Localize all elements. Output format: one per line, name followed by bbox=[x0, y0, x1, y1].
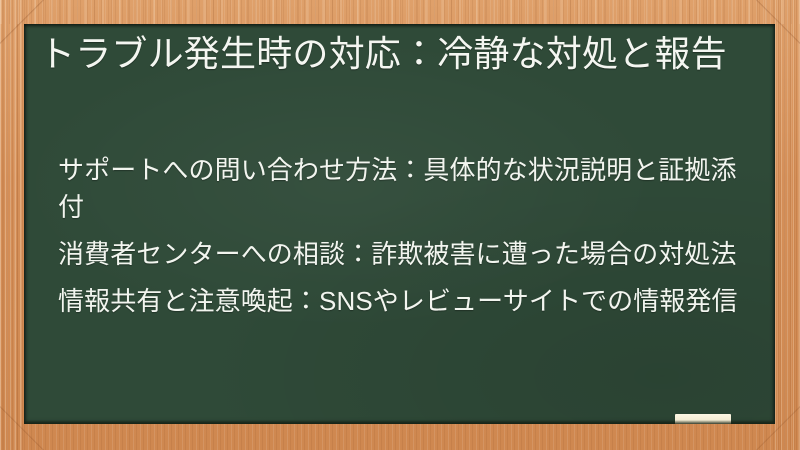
chalkboard-surface: トラブル発生時の対応：冷静な対処と報告 サポートへの問い合わせ方法：具体的な状況… bbox=[24, 24, 775, 424]
chalkboard-slide: トラブル発生時の対応：冷静な対処と報告 サポートへの問い合わせ方法：具体的な状況… bbox=[0, 0, 800, 450]
list-item: 消費者センターへの相談：詐欺被害に遭った場合の対処法 bbox=[58, 236, 758, 273]
list-item: 情報共有と注意喚起：SNSやレビューサイトでの情報発信 bbox=[58, 283, 758, 320]
frame-grain-left bbox=[0, 0, 24, 450]
list-item: サポートへの問い合わせ方法：具体的な状況説明と証拠添付 bbox=[58, 152, 758, 226]
frame-grain-top bbox=[0, 0, 800, 24]
board-bottom-edge bbox=[24, 420, 775, 424]
bullet-list: サポートへの問い合わせ方法：具体的な状況説明と証拠添付 消費者センターへの相談：… bbox=[58, 152, 758, 320]
frame-grain-right bbox=[775, 0, 800, 450]
slide-title: トラブル発生時の対応：冷静な対処と報告 bbox=[39, 30, 755, 77]
